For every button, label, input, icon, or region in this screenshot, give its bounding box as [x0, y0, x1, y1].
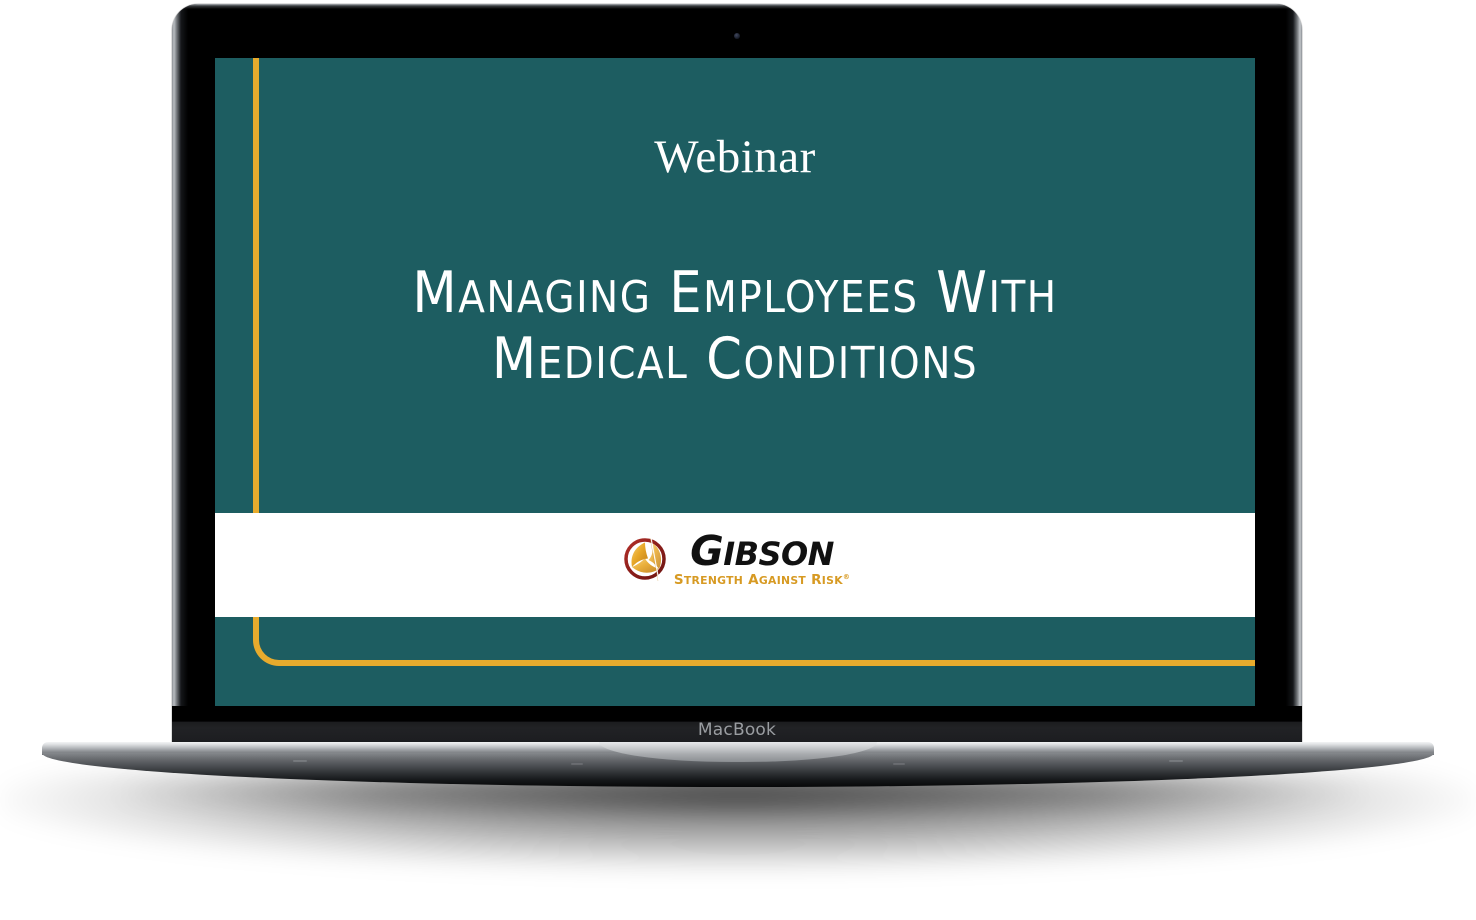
- gibson-wordmark: GIBSON STRENGTH AGAINST RISK®: [674, 532, 850, 588]
- camera-dot-icon: [734, 33, 740, 39]
- lid-top-rim: [172, 4, 1302, 34]
- gibson-registered-mark: ®: [843, 573, 850, 581]
- gibson-name: GIBSON: [690, 532, 834, 571]
- gibson-triquetra-icon: [620, 534, 670, 584]
- gibson-tagline: STRENGTH AGAINST RISK®: [674, 574, 850, 588]
- macbook-brand-label: MacBook: [172, 720, 1302, 740]
- laptop-base-detail-mid-right: [893, 763, 905, 765]
- laptop-base-detail-right: [1169, 760, 1183, 762]
- slide-title-line-1: MANAGING EMPLOYEES WITH: [275, 260, 1195, 326]
- laptop-base-detail-mid-left: [571, 763, 583, 765]
- laptop-base-detail-left: [293, 760, 307, 762]
- presentation-slide[interactable]: Webinar MANAGING EMPLOYEES WITH MEDICAL …: [215, 58, 1255, 706]
- scene: Webinar MANAGING EMPLOYEES WITH MEDICAL …: [0, 0, 1476, 920]
- laptop-base: [42, 742, 1434, 788]
- macbook-device: Webinar MANAGING EMPLOYEES WITH MEDICAL …: [0, 0, 1476, 920]
- gibson-logo-inner: GIBSON STRENGTH AGAINST RISK®: [620, 530, 850, 588]
- gibson-logo: GIBSON STRENGTH AGAINST RISK®: [215, 530, 1255, 588]
- gibson-tagline-text: STRENGTH AGAINST RISK: [674, 572, 843, 588]
- laptop-chin: MacBook: [172, 706, 1302, 746]
- slide-title: MANAGING EMPLOYEES WITH MEDICAL CONDITIO…: [275, 260, 1195, 392]
- slide-kicker: Webinar: [215, 134, 1255, 181]
- slide-title-line-2: MEDICAL CONDITIONS: [275, 326, 1195, 392]
